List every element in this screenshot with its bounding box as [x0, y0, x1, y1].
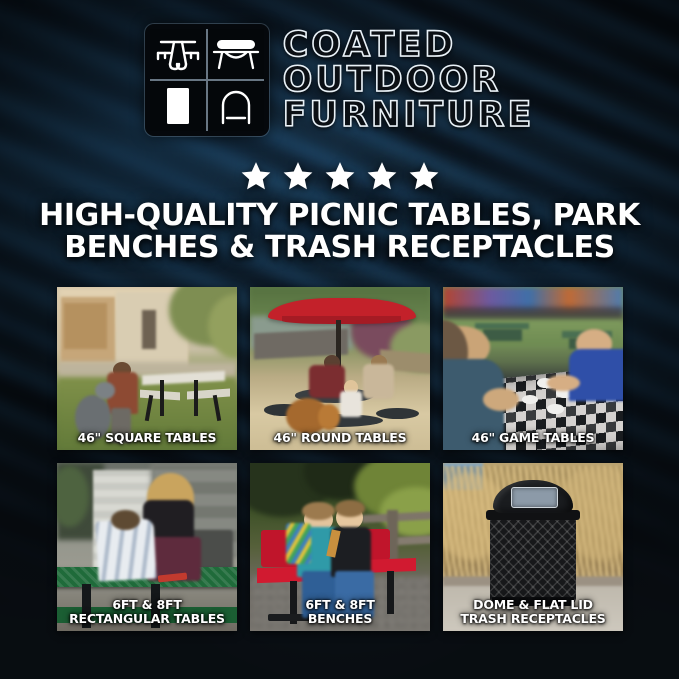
brand-logo: COATED OUTDOOR FURNITURE — [0, 24, 679, 136]
caption-line: TRASH RECEPTACLES — [443, 612, 623, 626]
caption-line: 6FT & 8FT — [57, 598, 237, 612]
product-tile-game-tables[interactable]: 46" GAME TABLES — [443, 287, 623, 450]
caption-line: BENCHES — [250, 612, 430, 626]
star-icon — [323, 160, 357, 192]
caption-line: DOME & FLAT LID — [443, 598, 623, 612]
star-icon — [281, 160, 315, 192]
product-caption-square-tables: 46" SQUARE TABLES — [57, 431, 237, 445]
trash-receptacle-icon — [150, 81, 206, 131]
star-icon — [365, 160, 399, 192]
product-caption-game-tables: 46" GAME TABLES — [443, 431, 623, 445]
product-caption-benches: 6FT & 8FT BENCHES — [250, 598, 430, 625]
logo-line-1: COATED — [283, 28, 535, 62]
caption-line: 46" SQUARE TABLES — [57, 431, 237, 445]
caption-line: RECTANGULAR TABLES — [57, 612, 237, 626]
product-caption-round-tables: 46" ROUND TABLES — [250, 431, 430, 445]
caption-line: 46" GAME TABLES — [443, 431, 623, 445]
logo-line-3: FURNITURE — [283, 98, 535, 132]
logo-icon-grid — [145, 24, 269, 136]
star-icon — [407, 160, 441, 192]
caption-line: 6FT & 8FT — [250, 598, 430, 612]
star-rating — [0, 160, 679, 192]
product-tile-rectangular-tables[interactable]: 6FT & 8FT RECTANGULAR TABLES — [57, 463, 237, 631]
headline-line-1: HIGH-QUALITY PICNIC TABLES, PARK — [0, 200, 679, 232]
product-photo-round-tables — [250, 287, 430, 450]
picnic-table-icon — [150, 29, 206, 79]
headline-line-2: BENCHES & TRASH RECEPTACLES — [0, 232, 679, 264]
star-icon — [239, 160, 273, 192]
product-caption-trash-receptacles: DOME & FLAT LID TRASH RECEPTACLES — [443, 598, 623, 625]
logo-line-2: OUTDOOR — [283, 63, 535, 97]
product-tile-benches[interactable]: 6FT & 8FT BENCHES — [250, 463, 430, 631]
headline: HIGH-QUALITY PICNIC TABLES, PARK BENCHES… — [0, 200, 679, 265]
bench-icon — [208, 29, 264, 79]
product-photo-game-tables — [443, 287, 623, 450]
product-caption-rectangular-tables: 6FT & 8FT RECTANGULAR TABLES — [57, 598, 237, 625]
banner-content: COATED OUTDOOR FURNITURE HIGH-QUALITY PI… — [0, 0, 679, 679]
product-tile-square-tables[interactable]: 46" SQUARE TABLES — [57, 287, 237, 450]
product-tile-grid: 46" SQUARE TABLES — [57, 287, 623, 631]
product-photo-square-tables — [57, 287, 237, 450]
caption-line: 46" ROUND TABLES — [250, 431, 430, 445]
bike-rack-icon — [208, 81, 264, 131]
logo-wordmark: COATED OUTDOOR FURNITURE — [283, 28, 535, 133]
product-tile-trash-receptacles[interactable]: DOME & FLAT LID TRASH RECEPTACLES — [443, 463, 623, 631]
product-tile-round-tables[interactable]: 46" ROUND TABLES — [250, 287, 430, 450]
